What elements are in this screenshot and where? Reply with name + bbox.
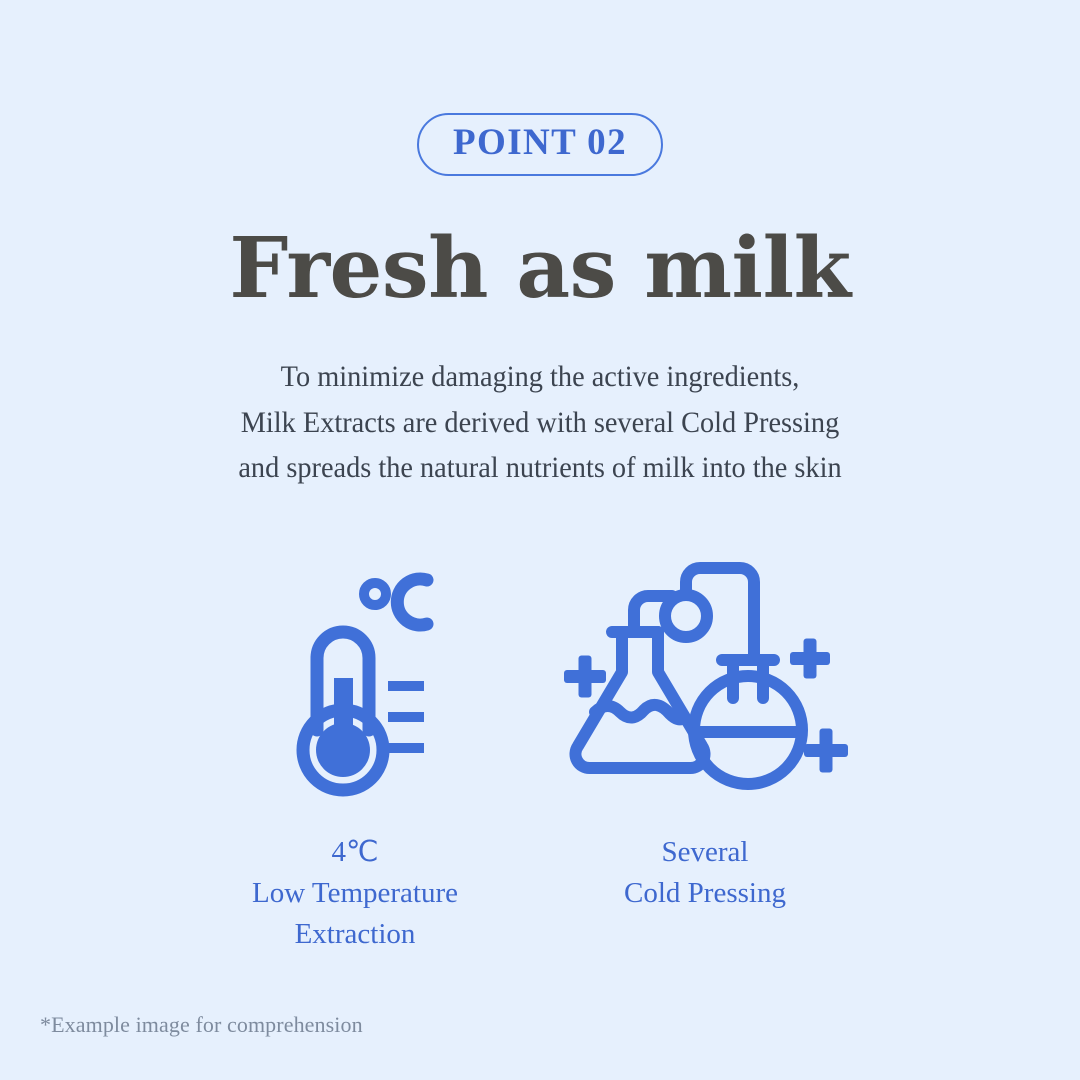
feature-caption-low-temperature: 4℃ Low Temperature Extraction bbox=[190, 832, 520, 955]
thermometer-icon-box bbox=[190, 552, 520, 800]
point-badge: POINT 02 bbox=[417, 113, 663, 176]
feature-caption-cold-pressing: Several Cold Pressing bbox=[545, 832, 865, 914]
description-line-1: To minimize damaging the active ingredie… bbox=[22, 355, 1059, 401]
sparkle-plus-2 bbox=[790, 639, 830, 679]
sparkle-plus-1 bbox=[564, 656, 606, 698]
thermometer-tick-2 bbox=[388, 712, 424, 722]
thermometer-tick-1 bbox=[388, 681, 424, 691]
description-line-3: and spreads the natural nutrients of mil… bbox=[22, 446, 1059, 492]
point-badge-container: POINT 02 bbox=[0, 113, 1080, 176]
description-line-2: Milk Extracts are derived with several C… bbox=[22, 401, 1059, 447]
description-paragraph: To minimize damaging the active ingredie… bbox=[0, 355, 1080, 492]
page-title: Fresh as milk bbox=[0, 222, 1080, 315]
lab-flasks-icon-box bbox=[545, 552, 865, 800]
thermometer-icon bbox=[255, 560, 455, 800]
caption-line-2: Cold Pressing bbox=[545, 873, 865, 914]
feature-cold-pressing: Several Cold Pressing bbox=[545, 552, 865, 914]
feature-low-temperature: 4℃ Low Temperature Extraction bbox=[190, 552, 520, 955]
sparkle-plus-3 bbox=[804, 729, 848, 773]
lab-flasks-icon bbox=[560, 560, 850, 800]
caption-line-3: Extraction bbox=[190, 914, 520, 955]
promo-card: POINT 02 Fresh as milk To minimize damag… bbox=[0, 0, 1080, 1080]
caption-line-1: Several bbox=[545, 832, 865, 873]
caption-line-2: Low Temperature bbox=[190, 873, 520, 914]
feature-row: 4℃ Low Temperature Extraction bbox=[0, 552, 1080, 982]
footnote: *Example image for comprehension bbox=[40, 1012, 363, 1038]
thermometer-tick-3 bbox=[388, 743, 424, 753]
caption-line-1: 4℃ bbox=[190, 832, 520, 873]
